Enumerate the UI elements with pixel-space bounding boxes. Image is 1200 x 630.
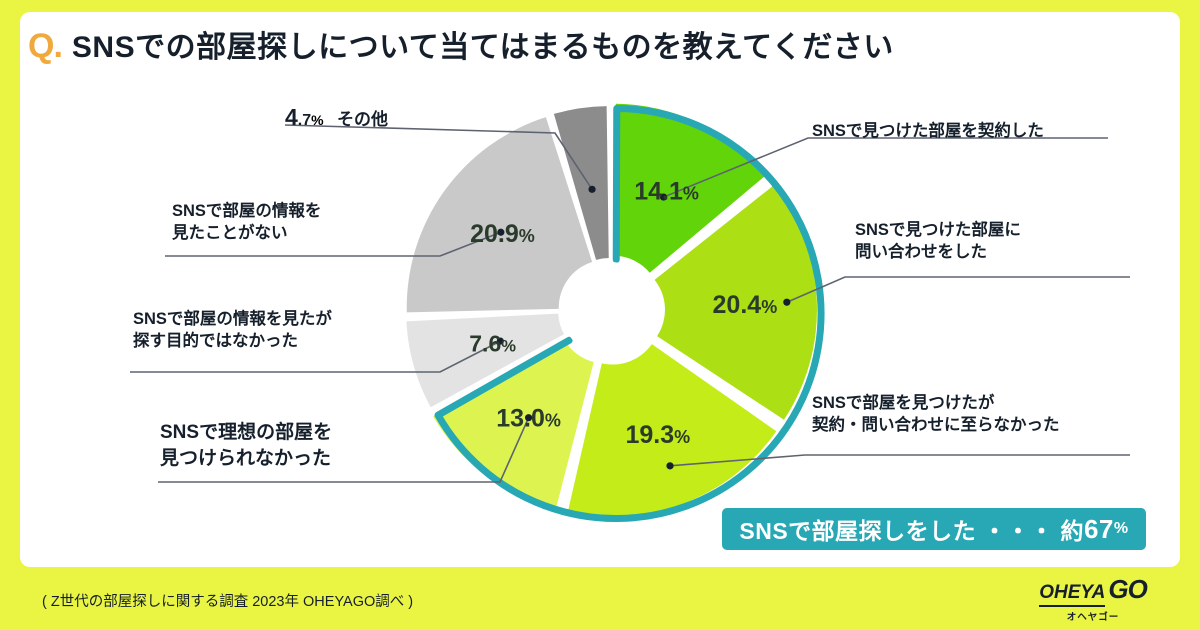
slice-label-no-ideal-room-line1: SNSで理想の部屋を (160, 420, 332, 446)
slice-label-never-seen-line1: SNSで部屋の情報を (172, 200, 321, 222)
page-title-text: SNSでの部屋探しについて当てはまるものを教えてください (72, 22, 894, 66)
oheyago-logo: OHEYA GO オヘヤゴー (1028, 574, 1158, 623)
logo-oheya-text: OHEYA (1039, 582, 1105, 607)
slice-label-not-searching-line2: 探す目的ではなかった (133, 330, 332, 352)
slice-label-inquired-line1: SNSで見つけた部屋に (855, 219, 1021, 241)
slice-label-other: 4.7% その他 (285, 104, 388, 131)
slice-label-found-only: SNSで部屋を見つけたが 契約・問い合わせに至らなかった (812, 392, 1060, 437)
infographic-root: Q. SNSでの部屋探しについて当てはまるものを教えてください 14.1%20.… (0, 0, 1200, 630)
content-card (20, 12, 1180, 567)
slice-label-no-ideal-room: SNSで理想の部屋を 見つけられなかった (160, 420, 332, 471)
slice-label-no-ideal-room-line2: 見つけられなかった (160, 446, 332, 472)
slice-label-other-text: その他 (337, 110, 388, 129)
page-title: Q. SNSでの部屋探しについて当てはまるものを教えてください (28, 22, 894, 66)
summary-badge: SNSで部屋探しをした ・・・ 約67% (722, 508, 1146, 550)
slice-label-inquired: SNSで見つけた部屋に 問い合わせをした (855, 219, 1021, 264)
slice-label-not-searching: SNSで部屋の情報を見たが 探す目的ではなかった (133, 308, 332, 353)
slice-value-other-decimal: .7 (298, 112, 311, 129)
source-note: ( Z世代の部屋探しに関する調査 2023年 OHEYAGO調べ ) (42, 590, 413, 611)
slice-label-not-searching-line1: SNSで部屋の情報を見たが (133, 308, 332, 330)
logo-kana-text: オヘヤゴー (1028, 609, 1158, 623)
slice-label-inquired-line2: 問い合わせをした (855, 241, 1021, 263)
slice-label-found-only-line1: SNSで部屋を見つけたが (812, 392, 1060, 414)
summary-badge-suffix: % (1114, 520, 1129, 538)
summary-badge-prefix: SNSで部屋探しをした ・・・ 約 (739, 512, 1084, 546)
slice-label-never-seen-line2: 見たことがない (172, 222, 321, 244)
slice-value-other: 4 (285, 104, 298, 130)
slice-label-contracted: SNSで見つけた部屋を契約した (812, 120, 1044, 142)
summary-badge-value: 67 (1084, 514, 1114, 545)
question-prefix: Q. (28, 27, 62, 66)
slice-label-contracted-line1: SNSで見つけた部屋を契約した (812, 120, 1044, 142)
logo-go-text: GO (1108, 574, 1146, 605)
slice-value-other-suffix: % (311, 112, 323, 128)
slice-label-never-seen: SNSで部屋の情報を 見たことがない (172, 200, 321, 245)
slice-label-found-only-line2: 契約・問い合わせに至らなかった (812, 414, 1060, 436)
